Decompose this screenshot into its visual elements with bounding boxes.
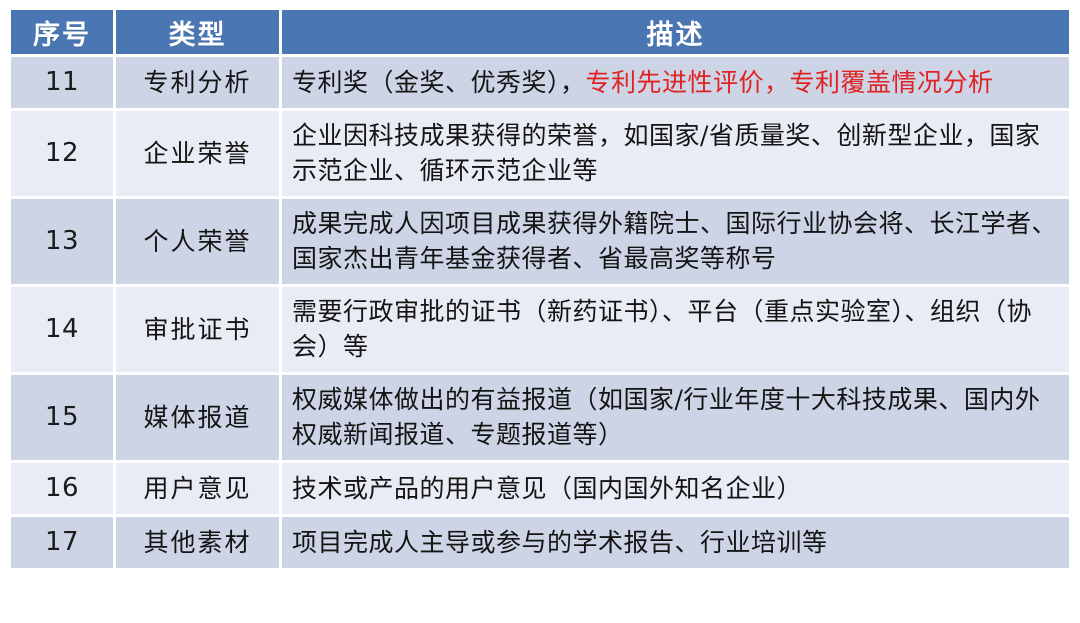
slide-canvas: 序号 类型 描述 11专利分析专利奖（金奖、优秀奖），专利先进性评价，专利覆盖情… xyxy=(0,0,1080,623)
cell-description: 成果完成人因项目成果获得外籍院士、国际行业协会将、长江学者、国家杰出青年基金获得… xyxy=(282,199,1069,284)
description-text: 专利奖（金奖、优秀奖）， xyxy=(292,68,586,97)
cell-type: 审批证书 xyxy=(116,287,279,372)
cell-description: 企业因科技成果获得的荣誉，如国家/省质量奖、创新型企业，国家示范企业、循环示范企… xyxy=(282,111,1069,196)
table-row: 16用户意见技术或产品的用户意见（国内国外知名企业） xyxy=(11,463,1069,514)
cell-serial-number: 11 xyxy=(11,57,113,108)
table-header: 序号 类型 描述 xyxy=(11,10,1069,54)
cell-description: 需要行政审批的证书（新药证书）、平台（重点实验室）、组织（协会）等 xyxy=(282,287,1069,372)
column-header-type: 类型 xyxy=(116,10,279,54)
cell-serial-number: 13 xyxy=(11,199,113,284)
cell-description: 项目完成人主导或参与的学术报告、行业培训等 xyxy=(282,517,1069,568)
table-row: 12企业荣誉企业因科技成果获得的荣誉，如国家/省质量奖、创新型企业，国家示范企业… xyxy=(11,111,1069,196)
table-body: 11专利分析专利奖（金奖、优秀奖），专利先进性评价，专利覆盖情况分析12企业荣誉… xyxy=(11,57,1069,568)
cell-type: 企业荣誉 xyxy=(116,111,279,196)
material-type-table: 序号 类型 描述 11专利分析专利奖（金奖、优秀奖），专利先进性评价，专利覆盖情… xyxy=(8,7,1072,571)
description-highlight-text: 专利先进性评价，专利覆盖情况分析 xyxy=(586,68,994,97)
cell-description: 技术或产品的用户意见（国内国外知名企业） xyxy=(282,463,1069,514)
table-row: 17其他素材项目完成人主导或参与的学术报告、行业培训等 xyxy=(11,517,1069,568)
cell-type: 其他素材 xyxy=(116,517,279,568)
cell-type: 个人荣誉 xyxy=(116,199,279,284)
description-text: 技术或产品的用户意见（国内国外知名企业） xyxy=(292,474,802,503)
cell-type: 专利分析 xyxy=(116,57,279,108)
table-row: 13个人荣誉成果完成人因项目成果获得外籍院士、国际行业协会将、长江学者、国家杰出… xyxy=(11,199,1069,284)
description-text: 权威媒体做出的有益报道（如国家/行业年度十大科技成果、国内外权威新闻报道、专题报… xyxy=(292,385,1040,450)
description-text: 项目完成人主导或参与的学术报告、行业培训等 xyxy=(292,528,828,557)
description-text: 成果完成人因项目成果获得外籍院士、国际行业协会将、长江学者、国家杰出青年基金获得… xyxy=(292,209,1057,274)
cell-description: 专利奖（金奖、优秀奖），专利先进性评价，专利覆盖情况分析 xyxy=(282,57,1069,108)
description-text: 需要行政审批的证书（新药证书）、平台（重点实验室）、组织（协会）等 xyxy=(292,297,1032,362)
table-row: 14审批证书需要行政审批的证书（新药证书）、平台（重点实验室）、组织（协会）等 xyxy=(11,287,1069,372)
column-header-description: 描述 xyxy=(282,10,1069,54)
description-text: 企业因科技成果获得的荣誉，如国家/省质量奖、创新型企业，国家示范企业、循环示范企… xyxy=(292,121,1040,186)
cell-serial-number: 15 xyxy=(11,375,113,460)
table-row: 15媒体报道权威媒体做出的有益报道（如国家/行业年度十大科技成果、国内外权威新闻… xyxy=(11,375,1069,460)
cell-type: 媒体报道 xyxy=(116,375,279,460)
cell-serial-number: 17 xyxy=(11,517,113,568)
cell-serial-number: 14 xyxy=(11,287,113,372)
cell-serial-number: 12 xyxy=(11,111,113,196)
cell-serial-number: 16 xyxy=(11,463,113,514)
column-header-serial-number: 序号 xyxy=(11,10,113,54)
cell-description: 权威媒体做出的有益报道（如国家/行业年度十大科技成果、国内外权威新闻报道、专题报… xyxy=(282,375,1069,460)
cell-type: 用户意见 xyxy=(116,463,279,514)
table-header-row: 序号 类型 描述 xyxy=(11,10,1069,54)
table-row: 11专利分析专利奖（金奖、优秀奖），专利先进性评价，专利覆盖情况分析 xyxy=(11,57,1069,108)
